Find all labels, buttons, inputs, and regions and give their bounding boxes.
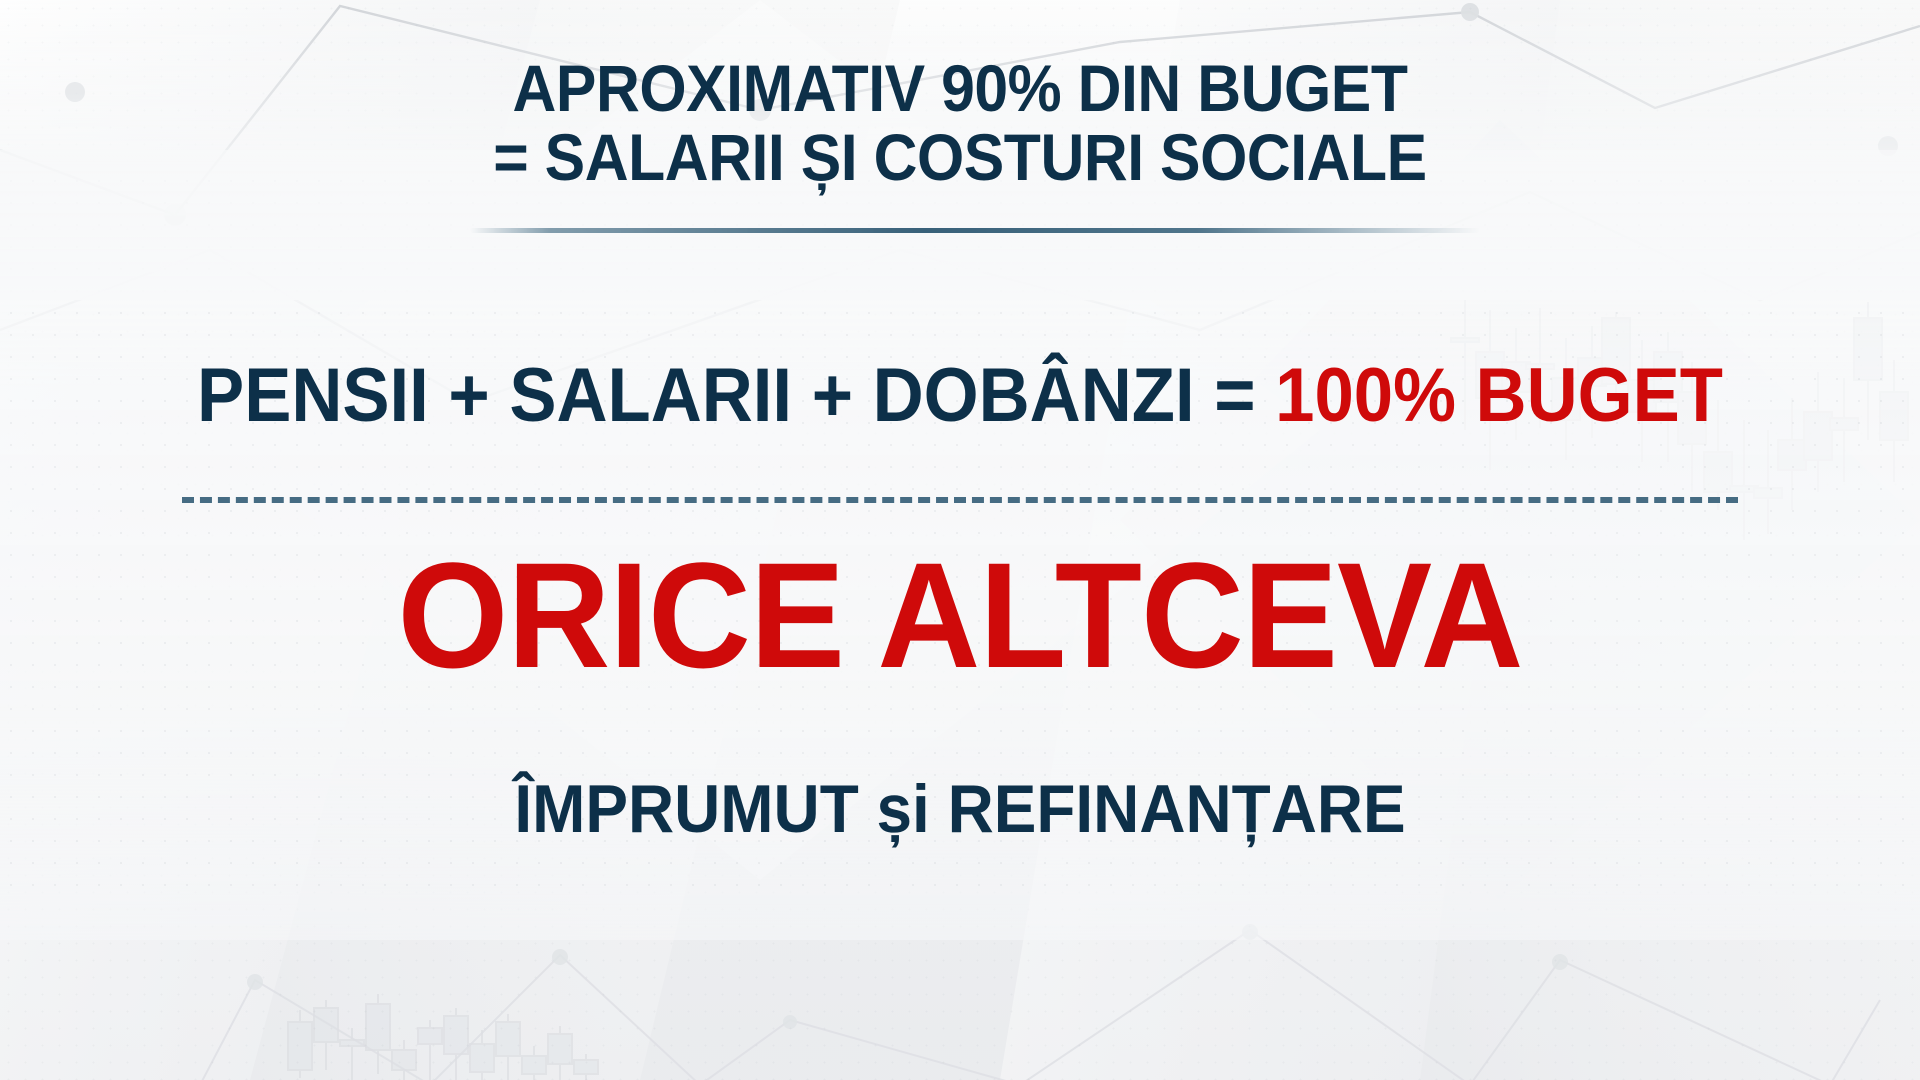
subline: ÎMPRUMUT și REFINANȚARE bbox=[58, 775, 1863, 843]
dashed-divider bbox=[182, 497, 1738, 503]
equation-prefix: PENSII + SALARII + DOBÂNZI = bbox=[197, 353, 1275, 438]
equation-line: PENSII + SALARII + DOBÂNZI = 100% BUGET bbox=[67, 358, 1853, 434]
slide-canvas: APROXIMATIV 90% DIN BUGET = SALARII ȘI C… bbox=[0, 0, 1920, 1080]
headline-line-2: = SALARII ȘI COSTURI SOCIALE bbox=[77, 123, 1843, 192]
equation-accent: 100% BUGET bbox=[1275, 353, 1723, 438]
headline-line-1: APROXIMATIV 90% DIN BUGET bbox=[77, 54, 1843, 123]
title-underline-rule bbox=[470, 228, 1480, 233]
big-statement: ORICE ALTCEVA bbox=[48, 540, 1872, 690]
headline: APROXIMATIV 90% DIN BUGET = SALARII ȘI C… bbox=[77, 54, 1843, 191]
slide-content: APROXIMATIV 90% DIN BUGET = SALARII ȘI C… bbox=[0, 0, 1920, 1080]
